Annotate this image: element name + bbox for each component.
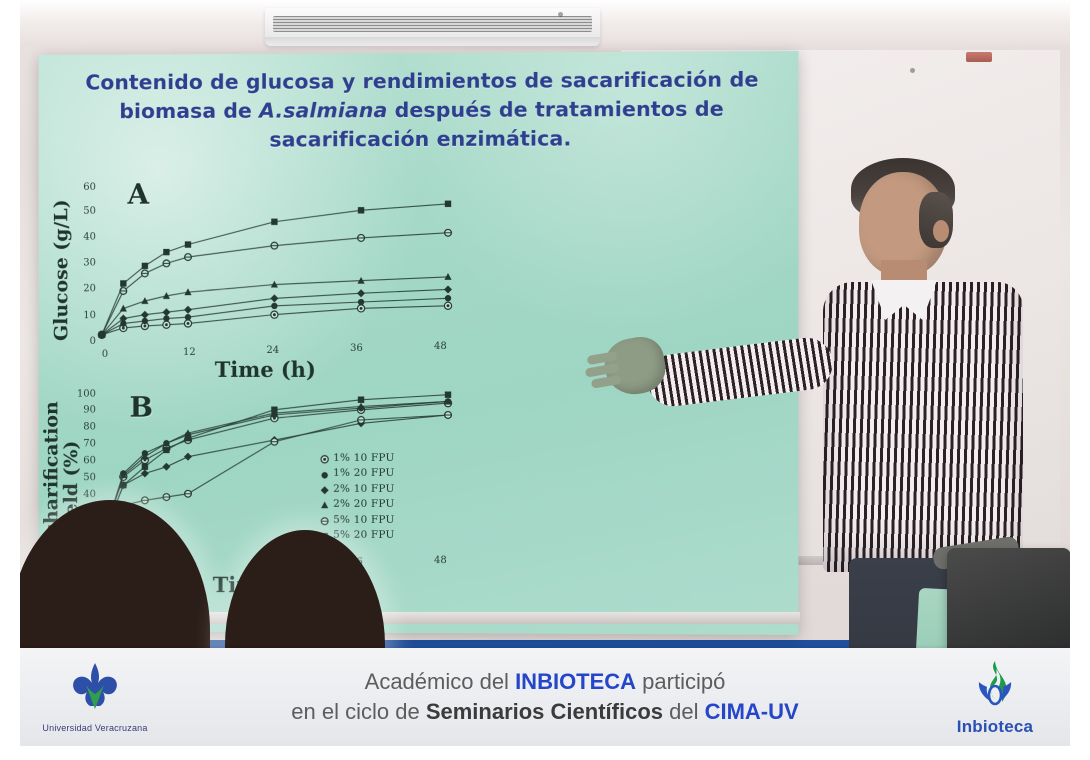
legend-item: 1% 20 FPU <box>320 466 394 482</box>
banner-line-1-prefix: Académico del <box>365 669 515 694</box>
universidad-veracruzana-caption: Universidad Veracruzana <box>20 723 170 733</box>
whiteboard-mark <box>910 68 915 73</box>
panel-a-xlabel: Time (h) <box>215 357 316 382</box>
panel-a-ytick: 20 <box>72 283 96 294</box>
legend-label: 1% 20 FPU <box>333 466 394 482</box>
panel-a-ylabel: Glucose (g/L) <box>50 199 72 341</box>
panel-a-ytick: 60 <box>72 182 96 193</box>
panel-a-ytick: 30 <box>72 257 96 268</box>
panel-a-plot <box>98 181 456 346</box>
whiteboard-mark <box>558 12 563 17</box>
inbioteca-flame-icon <box>966 658 1024 714</box>
inbioteca-caption: Inbioteca <box>920 717 1070 737</box>
bottom-white-margin <box>0 746 1090 760</box>
legend-label: 1% 10 FPU <box>333 451 394 467</box>
panel-a-ytick: 50 <box>72 206 96 217</box>
panel-b-ytick: 80 <box>68 422 96 433</box>
screenshot-root: Contenido de glucosa y rendimientos de s… <box>0 0 1090 760</box>
panel-b-ytick: 40 <box>68 489 96 500</box>
banner-message: Académico del INBIOTECA participó en el … <box>170 667 920 726</box>
banner-line-2-prefix: en el ciclo de <box>291 699 426 724</box>
presenter <box>815 150 1045 650</box>
banner-line-2: en el ciclo de Seminarios Científicos de… <box>170 697 920 727</box>
panel-b-ytick: 90 <box>68 405 96 416</box>
panel-a-ytick: 10 <box>72 310 96 321</box>
left-white-margin <box>0 0 20 760</box>
legend-label: 5% 10 FPU <box>333 512 394 528</box>
panel-a-xtick: 24 <box>266 345 279 356</box>
legend-marker-circle-dot-icon <box>320 454 329 463</box>
photo-scene: Contenido de glucosa y rendimientos de s… <box>20 0 1070 760</box>
legend-label: 2% 10 FPU <box>333 482 394 498</box>
panel-b-ytick: 50 <box>68 472 96 483</box>
banner-seminars-label: Seminarios Científicos <box>426 699 663 724</box>
panel-a-ytick: 0 <box>72 336 96 347</box>
panel-b-ytick: 70 <box>68 438 96 449</box>
inbioteca-logo: Inbioteca <box>920 658 1070 737</box>
panel-a-xtick: 12 <box>183 347 196 358</box>
legend-marker-circle-filled-icon <box>320 469 329 478</box>
banner-brand-cima-uv: CIMA-UV <box>705 699 799 724</box>
air-conditioner-unit <box>265 8 600 46</box>
fleur-de-lis-icon <box>64 661 126 717</box>
legend-marker-triangle-icon <box>320 500 329 509</box>
presenter-ear <box>933 220 949 242</box>
panel-a-ytick: 40 <box>72 232 96 243</box>
banner-brand-inbioteca: INBIOTECA <box>515 669 636 694</box>
legend-marker-circle-open-icon <box>320 516 329 525</box>
panel-b-ytick: 60 <box>68 455 96 466</box>
legend-label: 2% 20 FPU <box>333 497 394 513</box>
universidad-veracruzana-logo: Universidad Veracruzana <box>20 661 170 733</box>
legend-label: 5% 20 FPU <box>333 528 394 544</box>
legend-item: 2% 10 FPU <box>320 482 394 498</box>
right-white-margin <box>1070 0 1090 760</box>
legend-item: 2% 20 FPU <box>320 497 394 513</box>
bottom-banner: Universidad Veracruzana Académico del IN… <box>20 648 1070 746</box>
whiteboard-clip <box>966 52 992 62</box>
banner-line-1: Académico del INBIOTECA participó <box>170 667 920 697</box>
banner-line-2-mid: del <box>663 699 705 724</box>
banner-line-1-suffix: participó <box>636 669 725 694</box>
panel-b-ytick: 100 <box>68 389 96 400</box>
legend-item: 1% 10 FPU <box>320 451 394 467</box>
legend-item: 5% 10 FPU <box>320 512 394 528</box>
chart-legend: 1% 10 FPU1% 20 FPU2% 10 FPU2% 20 FPU5% 1… <box>320 451 394 544</box>
presenter-striped-shirt <box>823 282 1023 572</box>
air-conditioner-grill <box>273 16 592 32</box>
air-conditioner-lip <box>265 37 600 46</box>
panel-a-xtick: 0 <box>102 349 108 360</box>
legend-marker-diamond-icon <box>320 485 329 494</box>
